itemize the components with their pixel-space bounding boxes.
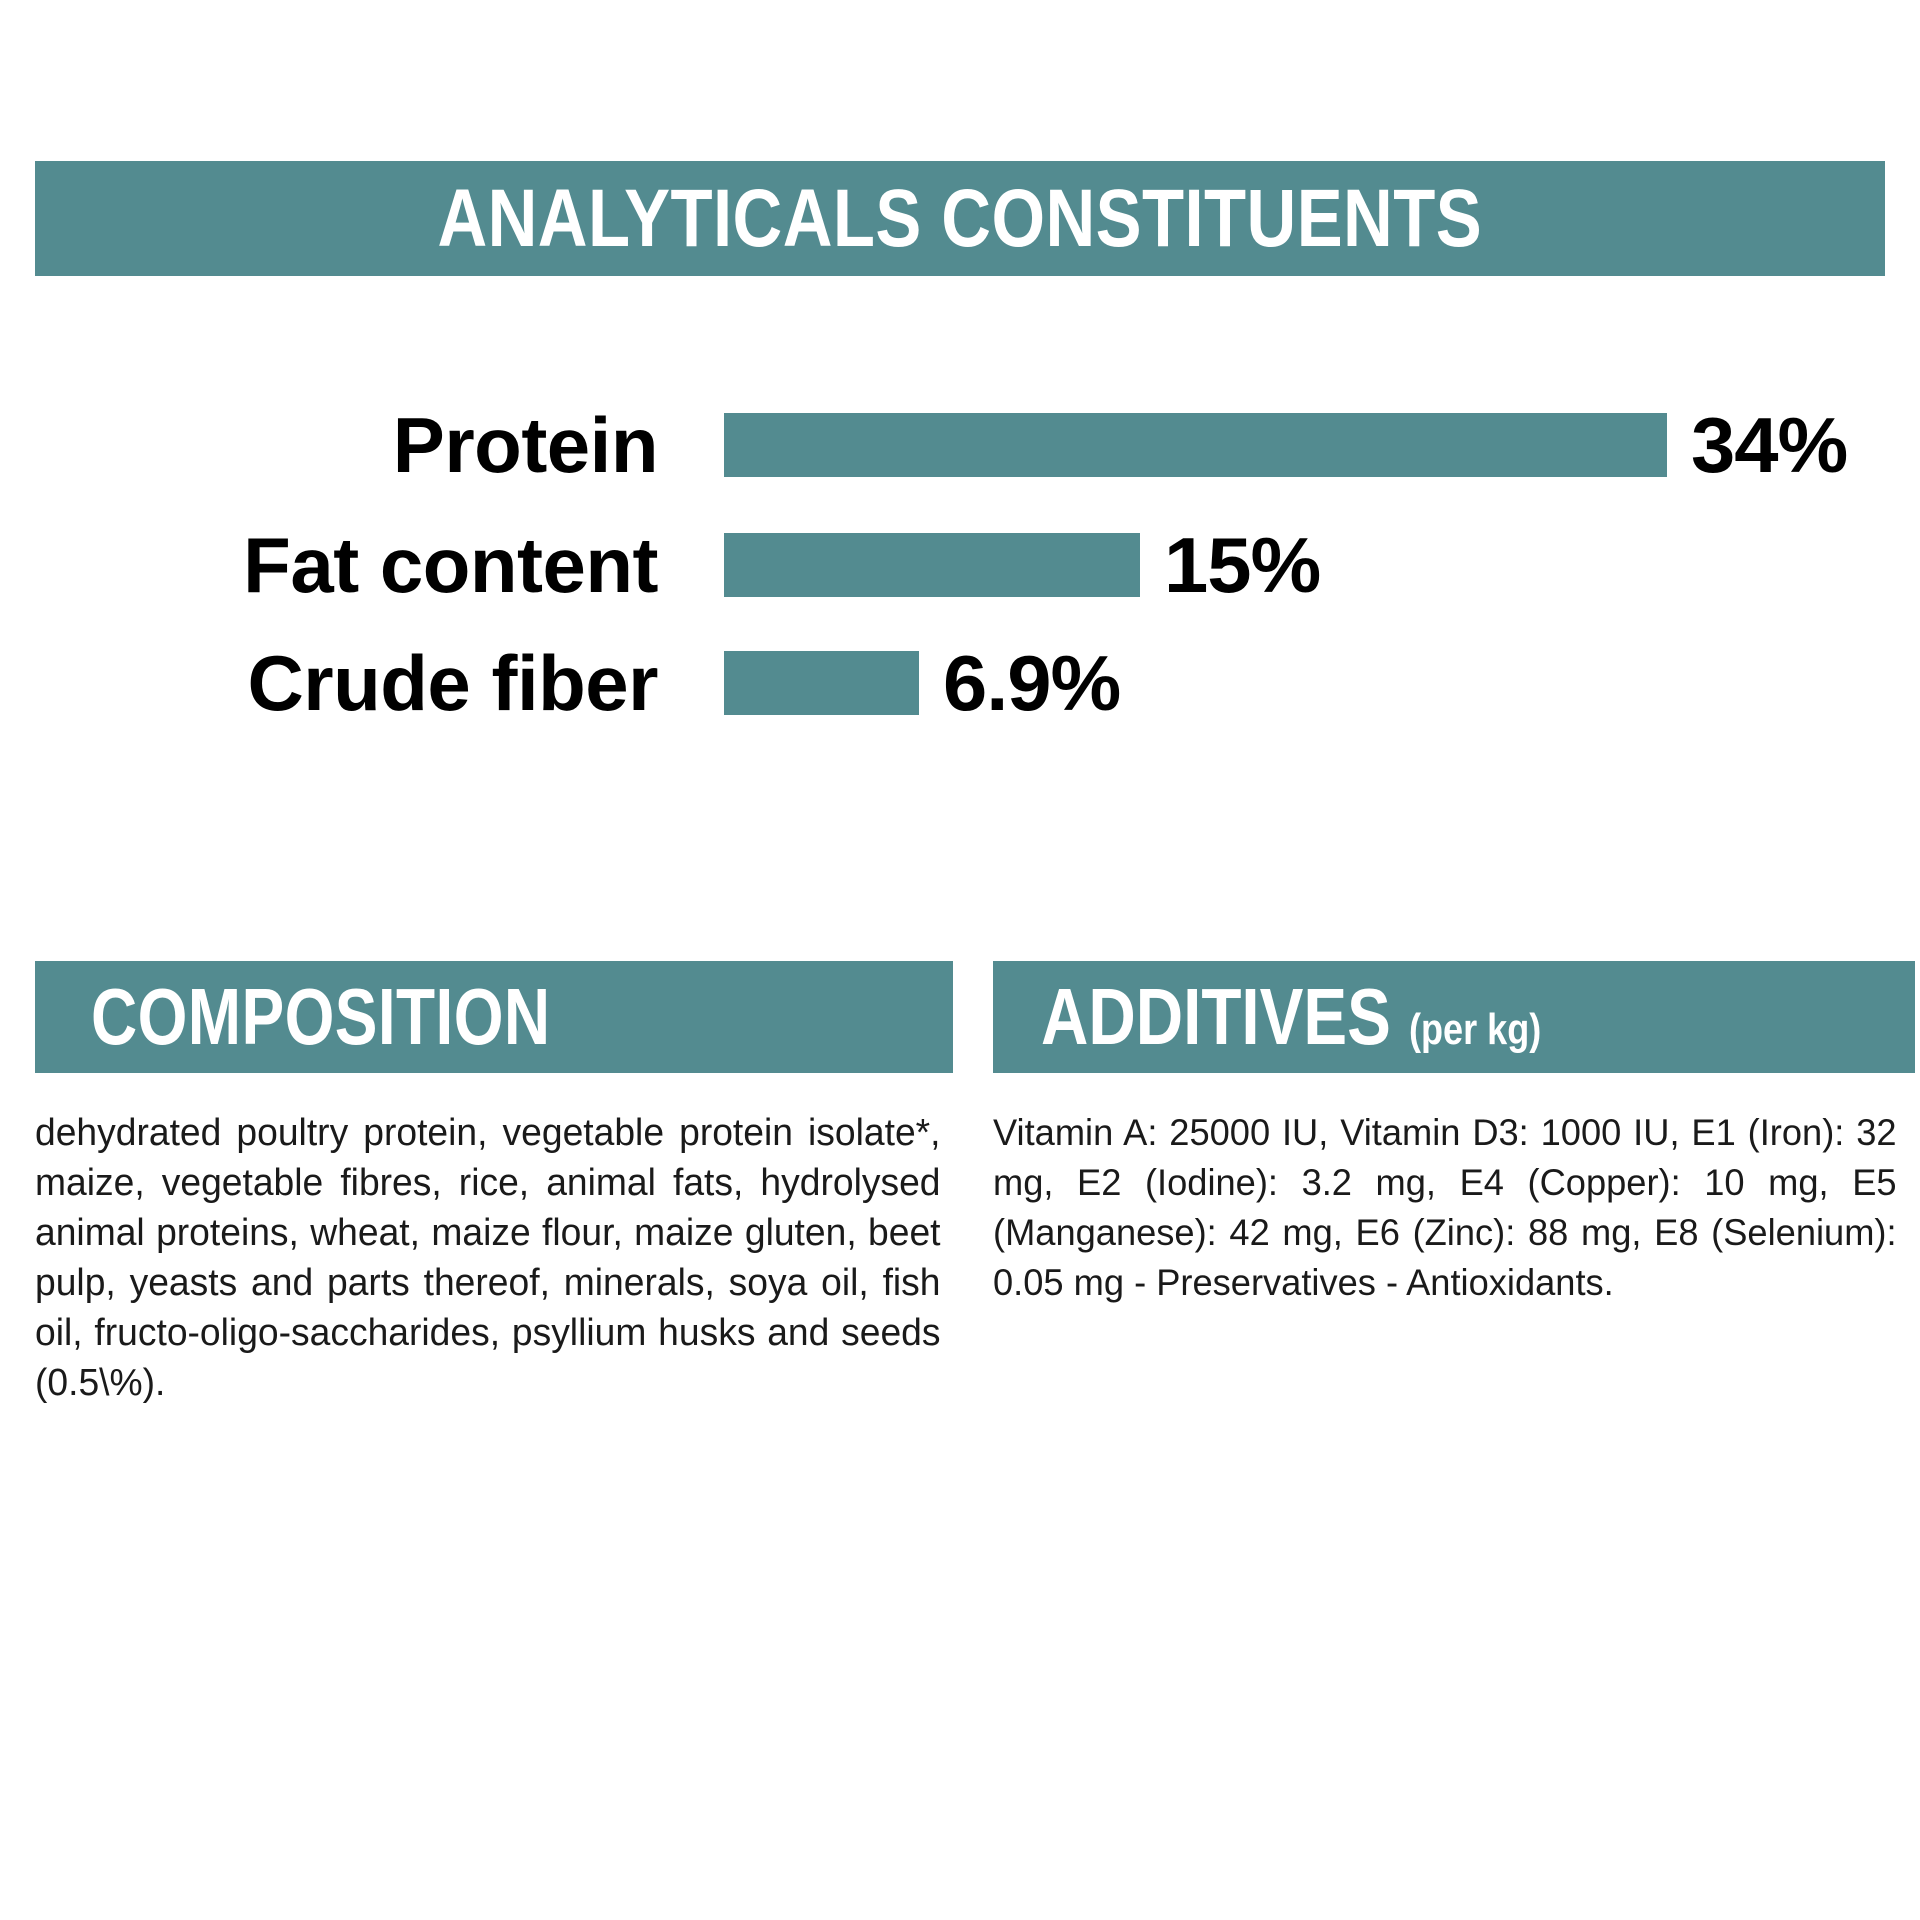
additives-subtitle: (per kg) [1409, 974, 1541, 1073]
bar-label-crude-fiber: Crude fiber [0, 633, 658, 733]
additives-body-text: Vitamin A: 25000 IU, Vitamin D3: 1000 IU… [993, 1108, 1897, 1308]
bar-fill-fat-content [724, 533, 1140, 597]
chart-row: Fat content 15% [0, 515, 1920, 615]
bar-track-crude-fiber: 6.9% [724, 633, 1117, 733]
composition-title: COMPOSITION [91, 977, 551, 1057]
chart-row: Protein 34% [0, 395, 1920, 495]
additives-banner: ADDITIVES (per kg) [993, 961, 1915, 1073]
bar-label-fat-content: Fat content [0, 515, 658, 615]
analyticals-constituents-banner: ANALYTICALS CONSTITUENTS [35, 161, 1885, 276]
additives-title: ADDITIVES [1041, 961, 1391, 1073]
bar-value-fat-content: 15% [1164, 515, 1320, 615]
bar-fill-crude-fiber [724, 651, 919, 715]
bar-value-protein: 34% [1691, 395, 1847, 495]
footer [0, 1770, 1920, 1920]
bar-value-crude-fiber: 6.9% [943, 633, 1120, 733]
analyticals-bar-chart: Protein 34% Fat content 15% Crude fiber … [0, 395, 1920, 735]
chart-row: Crude fiber 6.9% [0, 633, 1920, 733]
bar-track-protein: 34% [724, 395, 1844, 495]
bar-fill-protein [724, 413, 1667, 477]
bar-label-protein: Protein [0, 395, 658, 495]
analyticals-constituents-title: ANALYTICALS CONSTITUENTS [438, 178, 1483, 260]
nutrition-label-page: ANALYTICALS CONSTITUENTS Protein 34% Fat… [0, 0, 1920, 1920]
bar-track-fat-content: 15% [724, 515, 1317, 615]
composition-body-text: dehydrated poultry protein, vegetable pr… [35, 1108, 941, 1408]
composition-banner: COMPOSITION [35, 961, 953, 1073]
